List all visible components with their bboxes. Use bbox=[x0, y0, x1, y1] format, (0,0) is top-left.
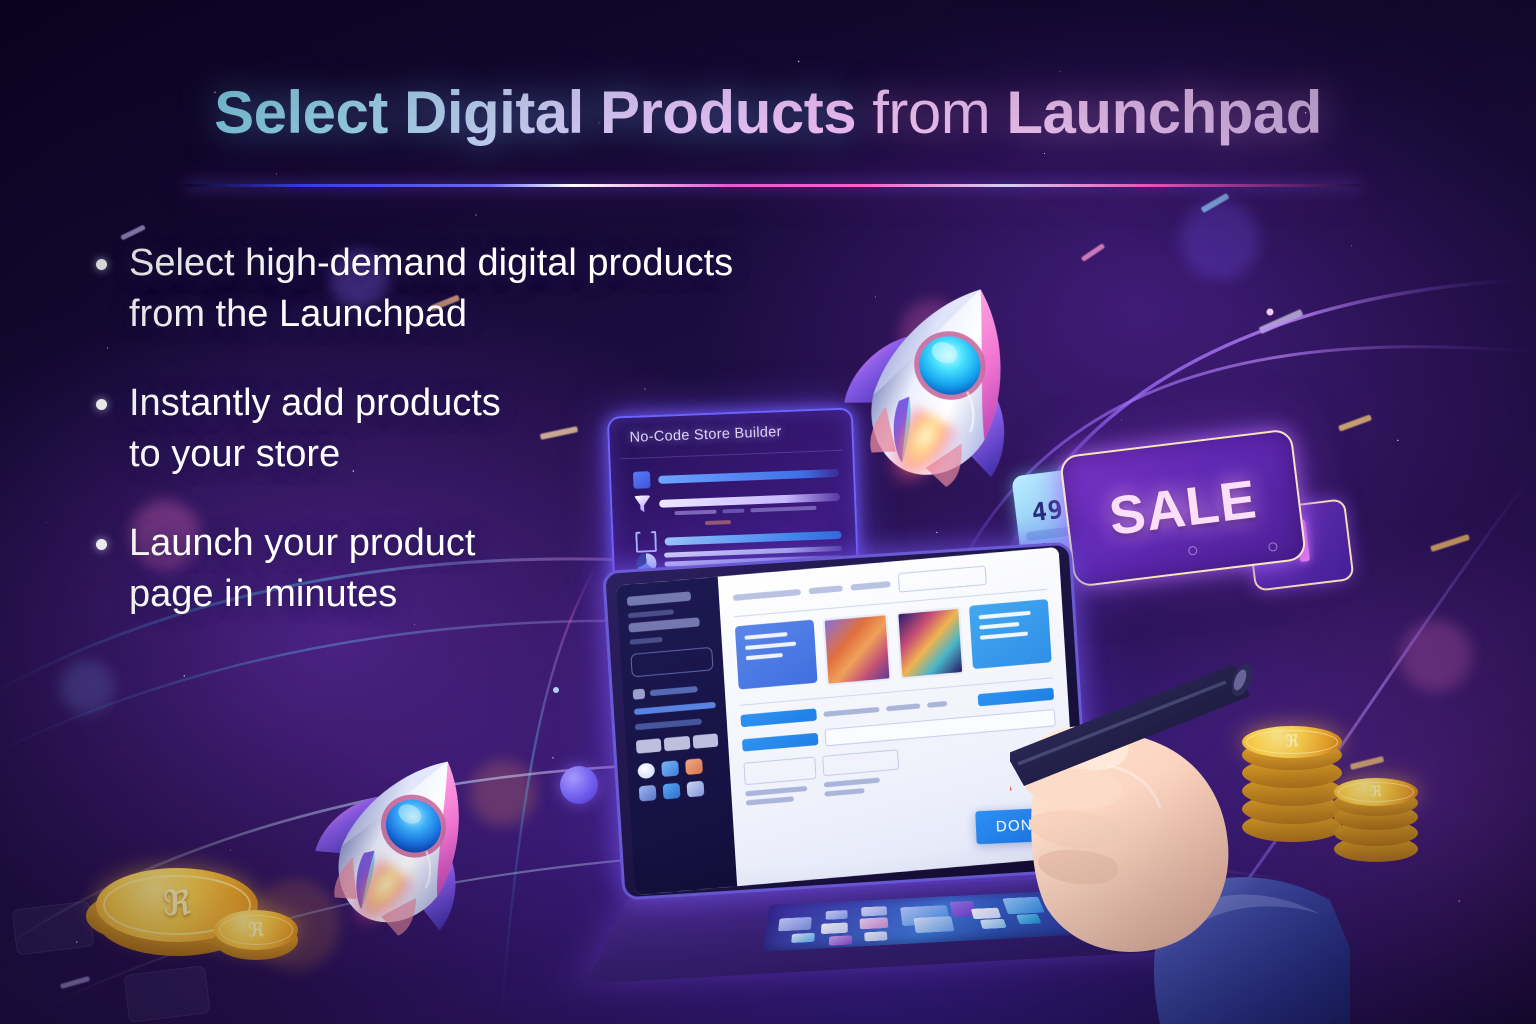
sidebar-grid-icon[interactable] bbox=[663, 783, 681, 800]
sidebar-item[interactable] bbox=[633, 682, 715, 699]
panel-sub-line bbox=[674, 510, 716, 516]
sidebar-item[interactable] bbox=[635, 717, 717, 730]
coin-currency-symbol: ℜ bbox=[163, 884, 192, 924]
confetti-streak bbox=[1350, 756, 1384, 770]
bullet-line: page in minutes bbox=[129, 569, 475, 620]
panel-title: No-Code Store Builder bbox=[629, 424, 782, 446]
sidebar-grid-icon[interactable] bbox=[687, 781, 705, 798]
sidebar-chip[interactable] bbox=[692, 733, 718, 748]
panel-row-bar bbox=[664, 530, 841, 545]
builder-sidebar bbox=[616, 577, 737, 895]
detail-block bbox=[822, 749, 899, 776]
confetti-streak bbox=[1201, 193, 1230, 213]
action-label bbox=[823, 706, 879, 716]
sidebar-item-label bbox=[650, 686, 698, 696]
sidebar-item-label bbox=[634, 702, 716, 715]
action-label bbox=[927, 700, 947, 707]
product-thumbnail[interactable] bbox=[822, 613, 891, 686]
confetti-streak bbox=[1338, 414, 1372, 431]
promo-graphic: Select Digital Products from Launchpad S… bbox=[0, 0, 1536, 1024]
sale-card-pin bbox=[1188, 546, 1198, 556]
bullet-dot-icon bbox=[96, 399, 107, 410]
tray-tile bbox=[826, 910, 848, 920]
toolbar-label bbox=[733, 588, 801, 600]
sidebar-grid-icon[interactable] bbox=[661, 760, 679, 777]
tertiary-action-button[interactable] bbox=[742, 732, 819, 751]
bullet-text: Select high-demand digital products from… bbox=[129, 238, 733, 340]
panel-sub-line bbox=[722, 509, 744, 514]
detail-block bbox=[744, 757, 817, 786]
coin-group-left: ℜ ℜ bbox=[86, 846, 316, 996]
tray-tile bbox=[821, 922, 848, 934]
sidebar-search-input[interactable] bbox=[630, 647, 713, 678]
canvas-toolbar bbox=[733, 560, 1047, 607]
sidebar-item-icon bbox=[633, 689, 646, 700]
toolbar-input[interactable] bbox=[898, 566, 987, 593]
page-title: Select Digital Products from Launchpad bbox=[0, 78, 1536, 147]
tray-tile bbox=[778, 917, 812, 931]
sale-label: SALE bbox=[1106, 468, 1260, 548]
page-title-brand: Launchpad bbox=[1006, 79, 1322, 146]
action-label bbox=[886, 703, 920, 711]
coin-currency-symbol: ℜ bbox=[248, 918, 264, 942]
coin-small-face: ℜ bbox=[214, 910, 298, 950]
list-item: Select high-demand digital products from… bbox=[96, 238, 886, 340]
sale-card-pin bbox=[1268, 542, 1278, 552]
bullet-line: to your store bbox=[129, 429, 501, 480]
sidebar-grid-icon[interactable] bbox=[685, 758, 703, 775]
bullet-line: Select high-demand digital products bbox=[129, 238, 733, 289]
sidebar-item[interactable] bbox=[634, 702, 716, 715]
panel-row-icon bbox=[635, 531, 657, 553]
sidebar-chip[interactable] bbox=[636, 738, 662, 753]
tray-tile bbox=[864, 931, 887, 941]
bullet-text: Instantly add products to your store bbox=[129, 378, 501, 480]
sidebar-subtext bbox=[629, 637, 662, 645]
bullet-line: from the Launchpad bbox=[129, 289, 733, 340]
sidebar-chip[interactable] bbox=[664, 736, 690, 751]
confetti-streak bbox=[1081, 243, 1105, 262]
ghost-card bbox=[11, 900, 94, 955]
toolbar-label bbox=[809, 585, 843, 594]
bullet-line: Instantly add products bbox=[129, 378, 501, 429]
tray-tile bbox=[791, 933, 815, 943]
panel-row-icon bbox=[634, 495, 652, 513]
tray-tile bbox=[913, 916, 954, 933]
hand-with-stylus bbox=[1010, 648, 1350, 1024]
title-divider bbox=[185, 184, 1360, 187]
detail-label bbox=[745, 786, 807, 796]
page-title-connector: from bbox=[872, 79, 990, 146]
toolbar-label bbox=[851, 581, 891, 591]
product-card-row bbox=[735, 599, 1052, 694]
confetti-streak bbox=[1430, 534, 1470, 552]
panel-sub-line bbox=[705, 520, 731, 525]
panel-row bbox=[633, 464, 840, 489]
tray-tile bbox=[861, 906, 887, 916]
tray-tile bbox=[860, 917, 889, 929]
sidebar-chip-group[interactable] bbox=[636, 733, 719, 753]
bullet-dot-icon bbox=[96, 259, 107, 270]
sidebar-icon-grid bbox=[637, 757, 721, 802]
sidebar-item-label bbox=[635, 718, 702, 730]
sidebar-grid-icon[interactable] bbox=[639, 785, 657, 802]
sidebar-grid-icon[interactable] bbox=[637, 762, 655, 779]
bullet-line: Launch your product bbox=[129, 518, 475, 569]
detail-label bbox=[824, 778, 880, 788]
sidebar-heading bbox=[628, 617, 699, 632]
product-thumbnail[interactable] bbox=[896, 607, 965, 680]
tray-tile bbox=[829, 935, 852, 945]
nebula-glow bbox=[60, 660, 114, 714]
bullet-text: Launch your product page in minutes bbox=[129, 518, 475, 620]
tray-tile bbox=[980, 919, 1007, 929]
detail-label bbox=[824, 788, 864, 797]
tray-tile bbox=[971, 908, 1001, 920]
coin-currency-symbol: ℜ bbox=[1370, 783, 1382, 801]
sidebar-heading bbox=[627, 591, 691, 606]
panel-row-icon bbox=[633, 471, 651, 489]
sidebar-subtext bbox=[628, 609, 674, 618]
panel-row-bar bbox=[658, 468, 839, 483]
confetti-streak bbox=[1259, 309, 1304, 334]
bullet-dot-icon bbox=[96, 539, 107, 550]
product-card[interactable] bbox=[735, 620, 817, 690]
nebula-glow bbox=[1400, 620, 1472, 692]
page-title-primary: Select Digital Products bbox=[214, 79, 856, 146]
nebula-glow bbox=[1180, 200, 1260, 280]
primary-action-button[interactable] bbox=[741, 708, 818, 727]
floating-sphere bbox=[560, 766, 598, 804]
detail-label bbox=[746, 796, 794, 805]
